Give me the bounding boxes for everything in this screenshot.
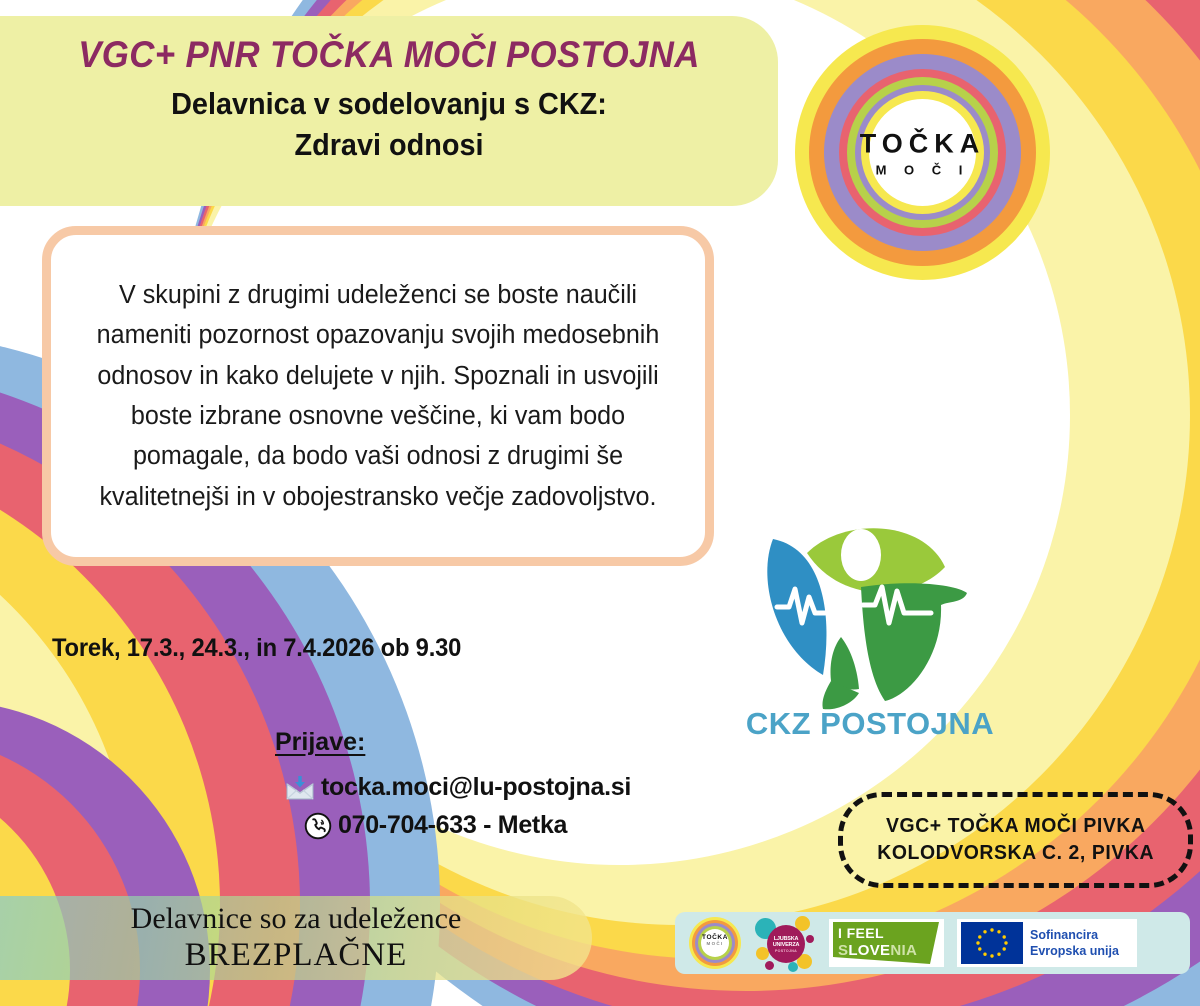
footer-tocka-moci-logo: TOČKA MOČI — [689, 917, 741, 969]
contact-phone-row[interactable]: 070-704-633 - Metka — [304, 811, 631, 840]
eu-cofunding-logo: Sofinancira Evropska unija — [957, 919, 1137, 967]
footer-tocka-word-top: TOČKA — [689, 934, 741, 941]
contact-email-text: tocka.moci@lu-postojna.si — [321, 773, 631, 802]
ifeel-line1: I FEEL — [838, 925, 884, 941]
contact-email-row[interactable]: tocka.moci@lu-postojna.si — [285, 773, 631, 802]
page-subtitle-line2: Zdravi odnosi — [27, 125, 751, 166]
address-line1: VGC+ TOČKA MOČI PIVKA — [886, 813, 1146, 840]
phone-ring-icon — [304, 812, 332, 840]
ifeel-nia: NIA — [890, 942, 917, 959]
ljubljanska-line3: POSTOJNA — [775, 949, 797, 953]
tocka-moci-logo: TOČKA M O Č I — [795, 25, 1050, 280]
tocka-logo-word-bottom: M O Č I — [848, 162, 998, 177]
schedule-date-line: Torek, 17.3., 24.3., in 7.4.2026 ob 9.30 — [52, 634, 461, 663]
footer-logo-strip: TOČKA MOČI LJUBSKA UNIVERZA POSTOJNA — [675, 912, 1190, 974]
ljubljanska-univerza-logo: LJUBSKA UNIVERZA POSTOJNA — [754, 915, 816, 971]
tocka-logo-word-top: TOČKA — [848, 128, 998, 159]
header-card: VGC+ PNR TOČKA MOČI POSTOJNA Delavnica v… — [0, 16, 778, 206]
ifeel-slovenia-box: I FEEL SLOVENIA — [829, 919, 944, 967]
eu-text-block: Sofinancira Evropska unija — [1030, 927, 1119, 960]
eu-logo-box: Sofinancira Evropska unija — [957, 919, 1137, 967]
free-participation-banner: Delavnice so za udeležence BREZPLAČNE — [0, 896, 592, 980]
description-text: V skupini z drugimi udeleženci se boste … — [56, 275, 700, 517]
bubble-magenta-r — [806, 935, 814, 943]
contact-phone-text: 070-704-633 - Metka — [338, 811, 567, 840]
description-card: V skupini z drugimi udeleženci se boste … — [42, 226, 714, 566]
page-title: VGC+ PNR TOČKA MOČI POSTOJNA — [23, 16, 754, 76]
eu-line1: Sofinancira — [1030, 927, 1119, 943]
signup-block: Prijave: tocka.moci@lu-postojna.si 070-7… — [265, 728, 631, 849]
envelope-inbox-icon — [285, 775, 315, 801]
ckz-postojna-caption: CKZ POSTOJNA — [745, 706, 995, 742]
tocka-logo-text: TOČKA M O Č I — [848, 128, 998, 177]
ljubljanska-core-circle: LJUBSKA UNIVERZA POSTOJNA — [767, 925, 805, 963]
eu-line2: Evropska unija — [1030, 943, 1119, 959]
page-subtitle-line1: Delavnica v sodelovanju s CKZ: — [27, 76, 751, 125]
ifeel-line2: SLOVENIA — [838, 942, 917, 959]
footer-tocka-word-bottom: MOČI — [689, 941, 741, 946]
address-line2: KOLODVORSKA C. 2, PIVKA — [877, 840, 1154, 867]
eu-flag-icon — [961, 922, 1023, 964]
signup-heading: Prijave: — [275, 728, 631, 757]
footer-tocka-text: TOČKA MOČI — [689, 934, 741, 946]
address-stamp: VGC+ TOČKA MOČI PIVKA KOLODVORSKA C. 2, … — [838, 792, 1193, 888]
eu-stars — [961, 922, 1023, 964]
free-banner-line1: Delavnice so za udeležence — [131, 901, 462, 936]
free-banner-line2: BREZPLAČNE — [185, 936, 408, 975]
ifeel-love: LOVE — [848, 942, 890, 959]
poster-canvas: VGC+ PNR TOČKA MOČI POSTOJNA Delavnica v… — [0, 0, 1200, 1006]
bubble-teal-br — [788, 962, 798, 972]
bubble-magenta-bl — [765, 961, 774, 970]
ifeel-s: S — [838, 942, 848, 959]
ljubljanska-line2: UNIVERZA — [773, 942, 800, 948]
i-feel-slovenia-logo: I FEEL SLOVENIA — [829, 919, 944, 967]
